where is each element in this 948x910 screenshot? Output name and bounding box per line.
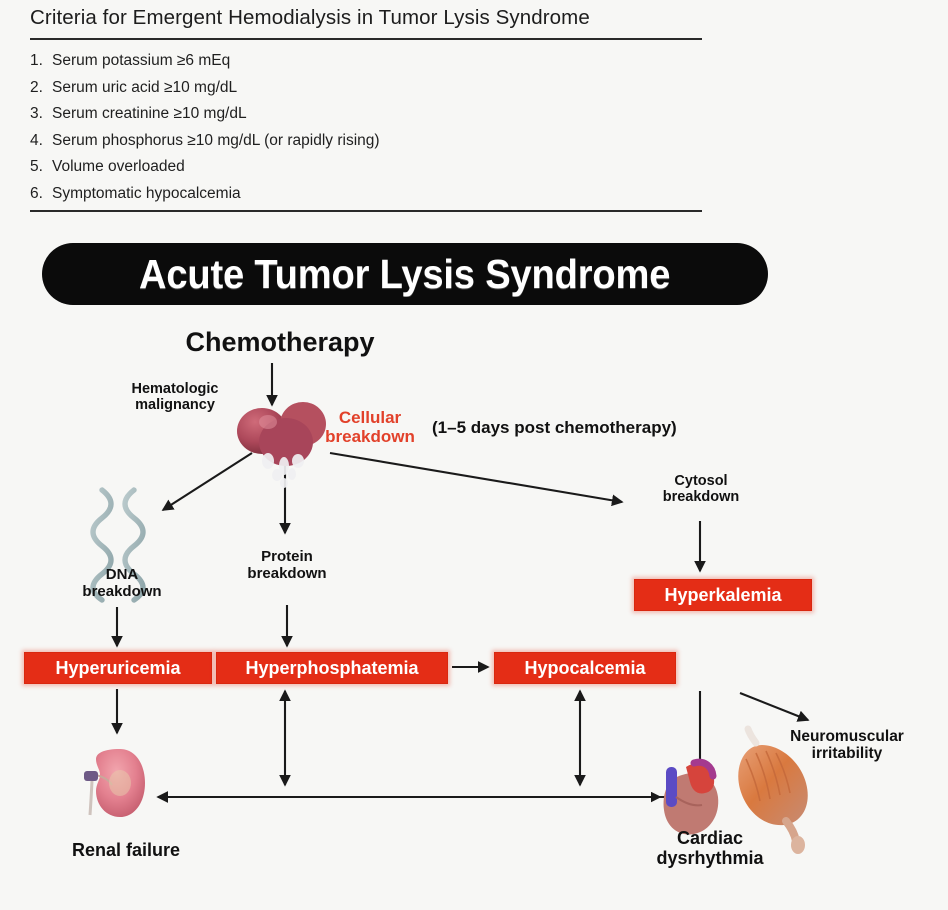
criteria-item: 3.Serum creatinine ≥10 mg/dL <box>30 101 720 128</box>
criteria-item-number: 5. <box>30 154 52 181</box>
hyperkalemia-box: Hyperkalemia <box>634 579 812 611</box>
criteria-item-text: Serum phosphorus ≥10 mg/dL (or rapidly r… <box>52 128 380 155</box>
criteria-item-text: Serum creatinine ≥10 mg/dL <box>52 101 247 128</box>
criteria-item-text: Serum potassium ≥6 mEq <box>52 48 230 75</box>
criteria-item-number: 1. <box>30 48 52 75</box>
dna-breakdown-label: DNAbreakdown <box>62 567 182 601</box>
protein-breakdown-label: Proteinbreakdown <box>222 549 352 583</box>
criteria-item: 2.Serum uric acid ≥10 mg/dL <box>30 75 720 102</box>
criteria-item-number: 3. <box>30 101 52 128</box>
criteria-item-number: 4. <box>30 128 52 155</box>
cardiac-dysrhythmia-label: Cardiacdysrhythmia <box>630 828 790 868</box>
neuromuscular-irritability-label: Neuromuscularirritability <box>762 728 932 763</box>
criteria-item-number: 2. <box>30 75 52 102</box>
criteria-panel: Criteria for Emergent Hemodialysis in Tu… <box>0 0 948 225</box>
divider-bottom <box>30 210 702 212</box>
criteria-list: 1.Serum potassium ≥6 mEq2.Serum uric aci… <box>30 48 720 207</box>
criteria-item: 1.Serum potassium ≥6 mEq <box>30 48 720 75</box>
hematologic-malignancy-label: Hematologicmalignancy <box>110 381 240 413</box>
hypocalcemia-box: Hypocalcemia <box>494 652 676 684</box>
renal-failure-label: Renal failure <box>36 840 216 860</box>
cellular-breakdown-label: Cellularbreakdown <box>310 408 430 446</box>
kidney-icon <box>84 749 145 817</box>
hyperuricemia-box: Hyperuricemia <box>24 652 212 684</box>
criteria-item-text: Serum uric acid ≥10 mg/dL <box>52 75 237 102</box>
chemotherapy-label: Chemotherapy <box>140 327 420 357</box>
tumor-lysis-flow-diagram: Chemotherapy Hematologicmalignancy Cellu… <box>0 305 948 910</box>
page-title: Acute Tumor Lysis Syndrome <box>139 251 670 298</box>
post-chemotherapy-timing-note: (1–5 days post chemotherapy) <box>432 418 732 437</box>
hyperphosphatemia-box: Hyperphosphatemia <box>216 652 448 684</box>
criteria-item: 5.Volume overloaded <box>30 154 720 181</box>
page-title-banner: Acute Tumor Lysis Syndrome <box>42 243 768 305</box>
criteria-title: Criteria for Emergent Hemodialysis in Tu… <box>30 6 710 30</box>
criteria-item-text: Symptomatic hypocalcemia <box>52 181 241 208</box>
criteria-item-text: Volume overloaded <box>52 154 185 181</box>
cytosol-breakdown-label: Cytosolbreakdown <box>636 473 766 505</box>
heart-icon <box>664 762 719 834</box>
criteria-item-number: 6. <box>30 181 52 208</box>
divider-top <box>30 38 702 40</box>
criteria-item: 4.Serum phosphorus ≥10 mg/dL (or rapidly… <box>30 128 720 155</box>
criteria-item: 6.Symptomatic hypocalcemia <box>30 181 720 208</box>
